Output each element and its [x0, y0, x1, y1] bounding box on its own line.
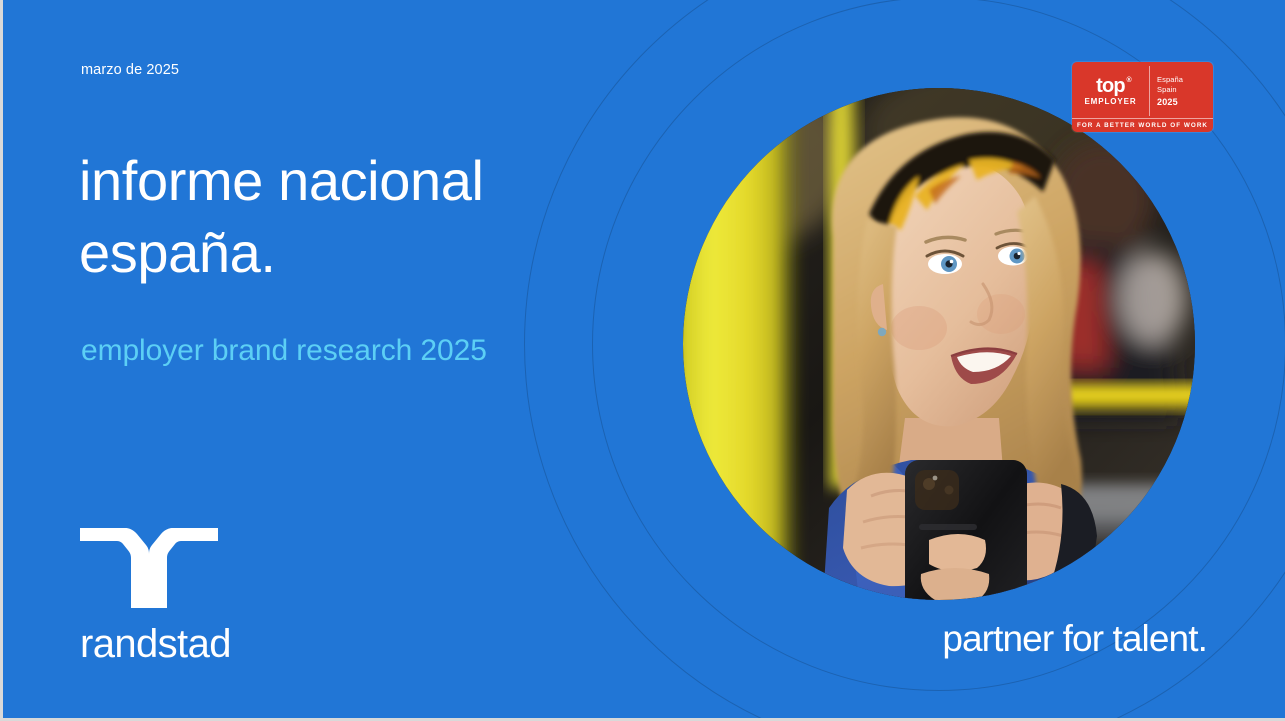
badge-strip-text: FOR A BETTER WORLD OF WORK [1077, 122, 1208, 129]
badge-year: 2025 [1157, 98, 1213, 107]
tagline: partner for talent. [942, 618, 1207, 660]
randstad-logo: randstad [80, 528, 320, 664]
slide-root: marzo de 2025 informe nacional españa. e… [0, 0, 1285, 721]
date-label: marzo de 2025 [81, 62, 179, 78]
badge-strip: FOR A BETTER WORLD OF WORK [1072, 118, 1213, 132]
badge-country-en: Spain [1157, 85, 1213, 95]
page-title: informe nacional españa. [79, 145, 549, 288]
page-title-line-2: españa. [79, 217, 549, 289]
hero-photo-circle [683, 88, 1195, 600]
badge-upper-section: top® EMPLOYER España Spain 2025 [1072, 62, 1213, 118]
badge-country-area: España Spain 2025 [1150, 66, 1213, 116]
page-title-line-1: informe nacional [79, 145, 549, 217]
badge-trademark-icon: ® [1126, 78, 1130, 85]
badge-top-word: top® [1096, 77, 1125, 96]
randstad-wordmark: randstad [80, 624, 320, 664]
badge-country-es: España [1157, 75, 1213, 85]
badge-logo-area: top® EMPLOYER [1072, 66, 1150, 116]
randstad-t-mark-icon [80, 528, 218, 608]
page-subtitle: employer brand research 2025 [81, 334, 487, 368]
top-employer-badge: top® EMPLOYER España Spain 2025 FOR A BE… [1072, 62, 1213, 132]
badge-employer-word: EMPLOYER [1084, 98, 1136, 106]
